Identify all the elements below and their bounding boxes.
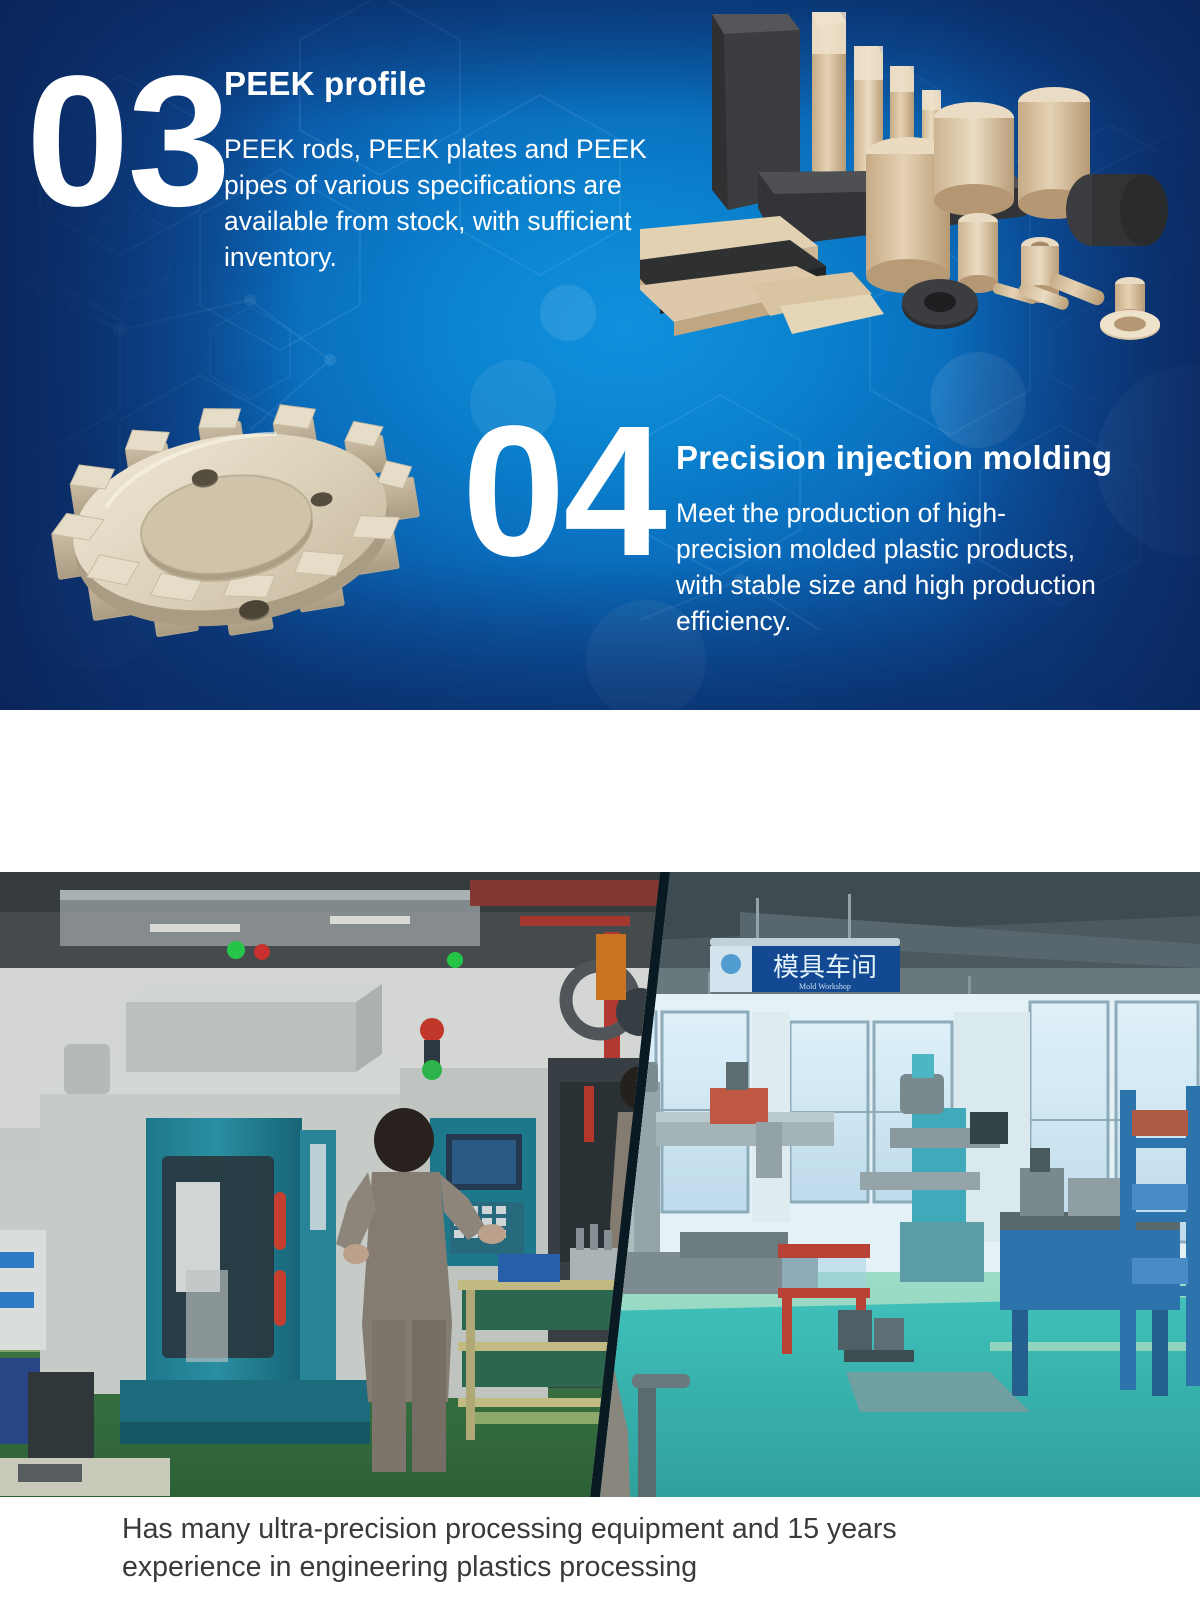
caption-line-2: experience in engineering plastics proce…	[122, 1549, 1080, 1587]
block-title-peek-profile: PEEK profile	[224, 66, 426, 102]
block-body-precision-injection-molding: Meet the production of high-precision mo…	[676, 495, 1106, 639]
peek-stock-photo	[640, 0, 1200, 350]
bottom-caption: Has many ultra-precision processing equi…	[0, 1497, 1200, 1612]
cnc-machining-workshop-photo	[0, 872, 690, 1497]
block-number-03: 03	[26, 62, 229, 222]
peek-black-cylinder	[1066, 174, 1168, 246]
caption-line-1: Has many ultra-precision processing equi…	[122, 1511, 1080, 1549]
block-body-peek-profile: PEEK rods, PEEK plates and PEEK pipes of…	[224, 131, 654, 275]
mold-workshop-photo: 模具车间 Mold Workshop	[560, 872, 1200, 1497]
page-root: 03 PEEK profile PEEK rods, PEEK plates a…	[0, 0, 1200, 1612]
block-number-04: 04	[462, 412, 665, 572]
peek-gear-ring-photo	[20, 372, 440, 672]
workshop-photo-strip: 模具车间 Mold Workshop	[0, 872, 1200, 1497]
strengths-band: OUR STRENGTHS	[0, 710, 1200, 872]
peek-black-ring	[902, 279, 978, 329]
hero-panel: 03 PEEK profile PEEK rods, PEEK plates a…	[0, 0, 1200, 710]
block-title-precision-injection-molding: Precision injection molding	[676, 440, 1112, 476]
